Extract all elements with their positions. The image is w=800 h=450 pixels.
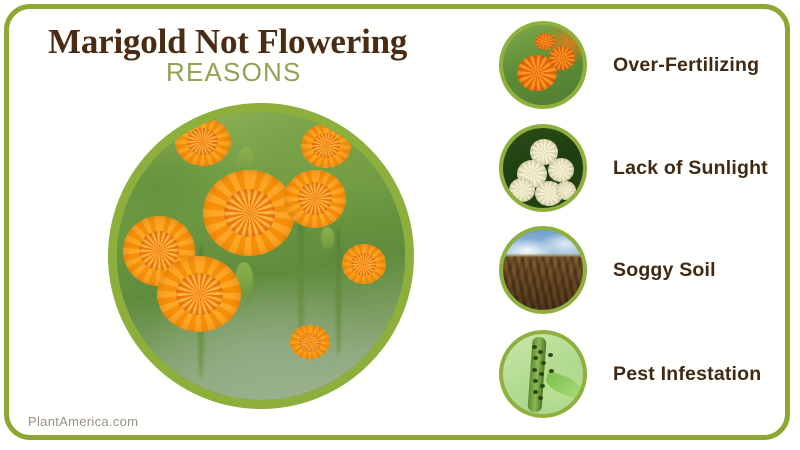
site-watermark: PlantAmerica.com: [28, 414, 138, 429]
hero-image-marigold-field: [108, 103, 414, 409]
hero-photo: [117, 112, 405, 400]
reason-thumbnail-lack-of-sunlight: [499, 124, 587, 212]
reason-thumbnail-soggy-soil: [499, 226, 587, 314]
infographic-canvas: Marigold Not Flowering REASONS: [0, 0, 800, 450]
thumb-marigold-bloom: [535, 33, 555, 50]
reason-label: Over-Fertilizing: [613, 54, 759, 77]
reason-label: Lack of Sunlight: [613, 157, 768, 180]
hero-marigold-bloom: [203, 170, 295, 256]
aphid-icon: [540, 384, 545, 388]
hero-stem: [336, 227, 341, 354]
hero-marigold-bloom: [301, 124, 351, 168]
reason-row[interactable]: Soggy Soil: [499, 224, 789, 316]
reason-label: Soggy Soil: [613, 259, 716, 282]
reason-thumbnail-pest-infestation: [499, 330, 587, 418]
thumb-white-marigold-bloom: [509, 178, 535, 202]
hero-marigold-bloom: [290, 325, 330, 359]
reason-label: Pest Infestation: [613, 363, 761, 386]
hero-marigold-bloom: [157, 256, 241, 332]
hero-marigold-bloom: [175, 118, 231, 166]
thumb-marigold-bloom: [549, 46, 575, 70]
thumb-white-marigold-bloom: [556, 181, 576, 200]
hero-marigold-bloom: [342, 244, 386, 284]
reason-thumbnail-over-fertilizing: [499, 21, 587, 109]
page-subtitle: REASONS: [166, 57, 302, 88]
reason-row[interactable]: Lack of Sunlight: [499, 122, 789, 214]
aphid-icon: [532, 368, 537, 372]
aphid-icon: [533, 390, 538, 394]
page-title: Marigold Not Flowering: [48, 22, 407, 62]
aphid-icon: [541, 361, 546, 365]
reason-row[interactable]: Pest Infestation: [499, 328, 789, 420]
reason-row[interactable]: Over-Fertilizing: [499, 19, 789, 111]
hero-marigold-bloom: [284, 170, 346, 228]
thumb-plowed-soil: [503, 257, 583, 310]
